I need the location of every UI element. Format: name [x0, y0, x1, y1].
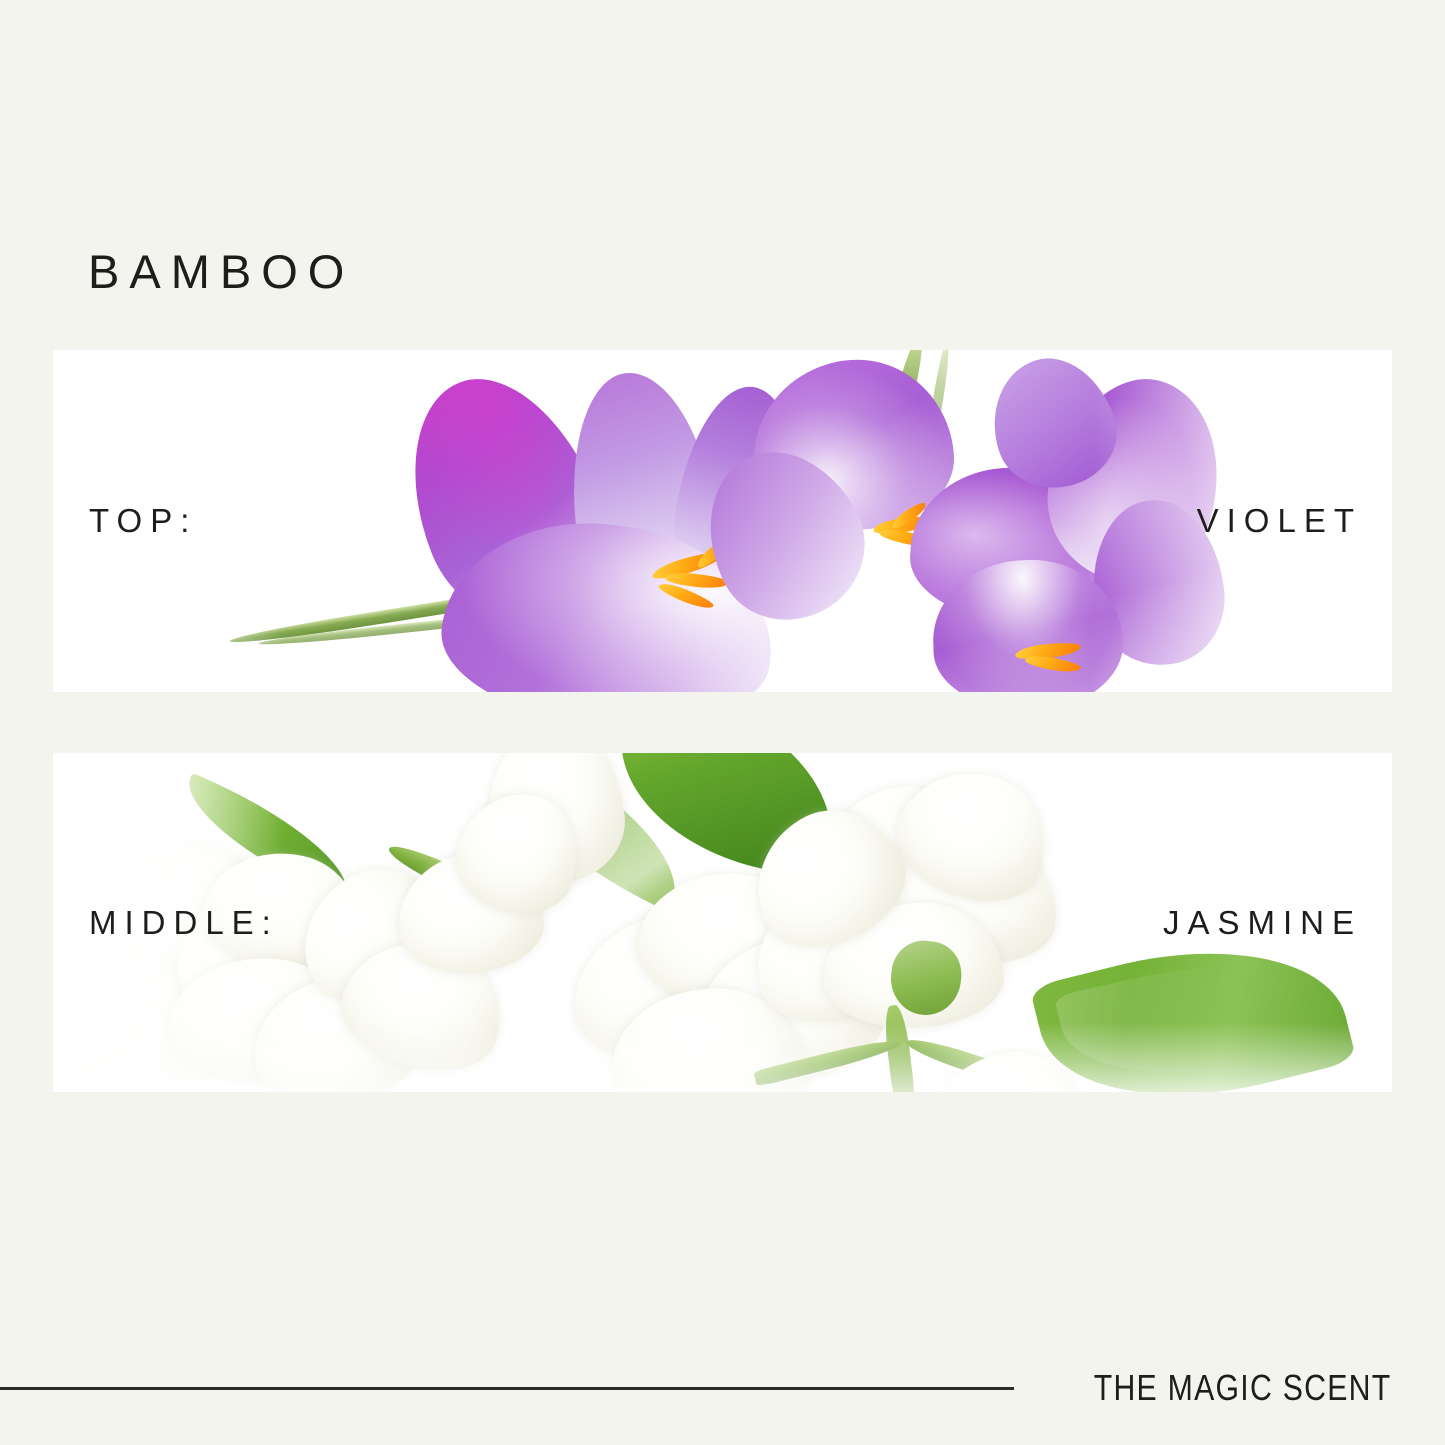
- note-band-middle: MIDDLE: JASMINE: [53, 753, 1392, 1092]
- violet-flower-image: [53, 350, 1392, 692]
- note-label-middle: MIDDLE:: [89, 904, 279, 942]
- note-band-top: TOP: VIOLET: [53, 350, 1392, 692]
- note-value-top: VIOLET: [1197, 502, 1362, 540]
- fragrance-notes-card: BAMBOO: [0, 0, 1445, 1445]
- page-title: BAMBOO: [88, 248, 354, 295]
- brand-mark: THE MAGIC SCENT: [1094, 1367, 1392, 1409]
- note-value-middle: JASMINE: [1163, 904, 1362, 942]
- footer-divider: [0, 1387, 1014, 1390]
- note-label-top: TOP:: [89, 502, 197, 540]
